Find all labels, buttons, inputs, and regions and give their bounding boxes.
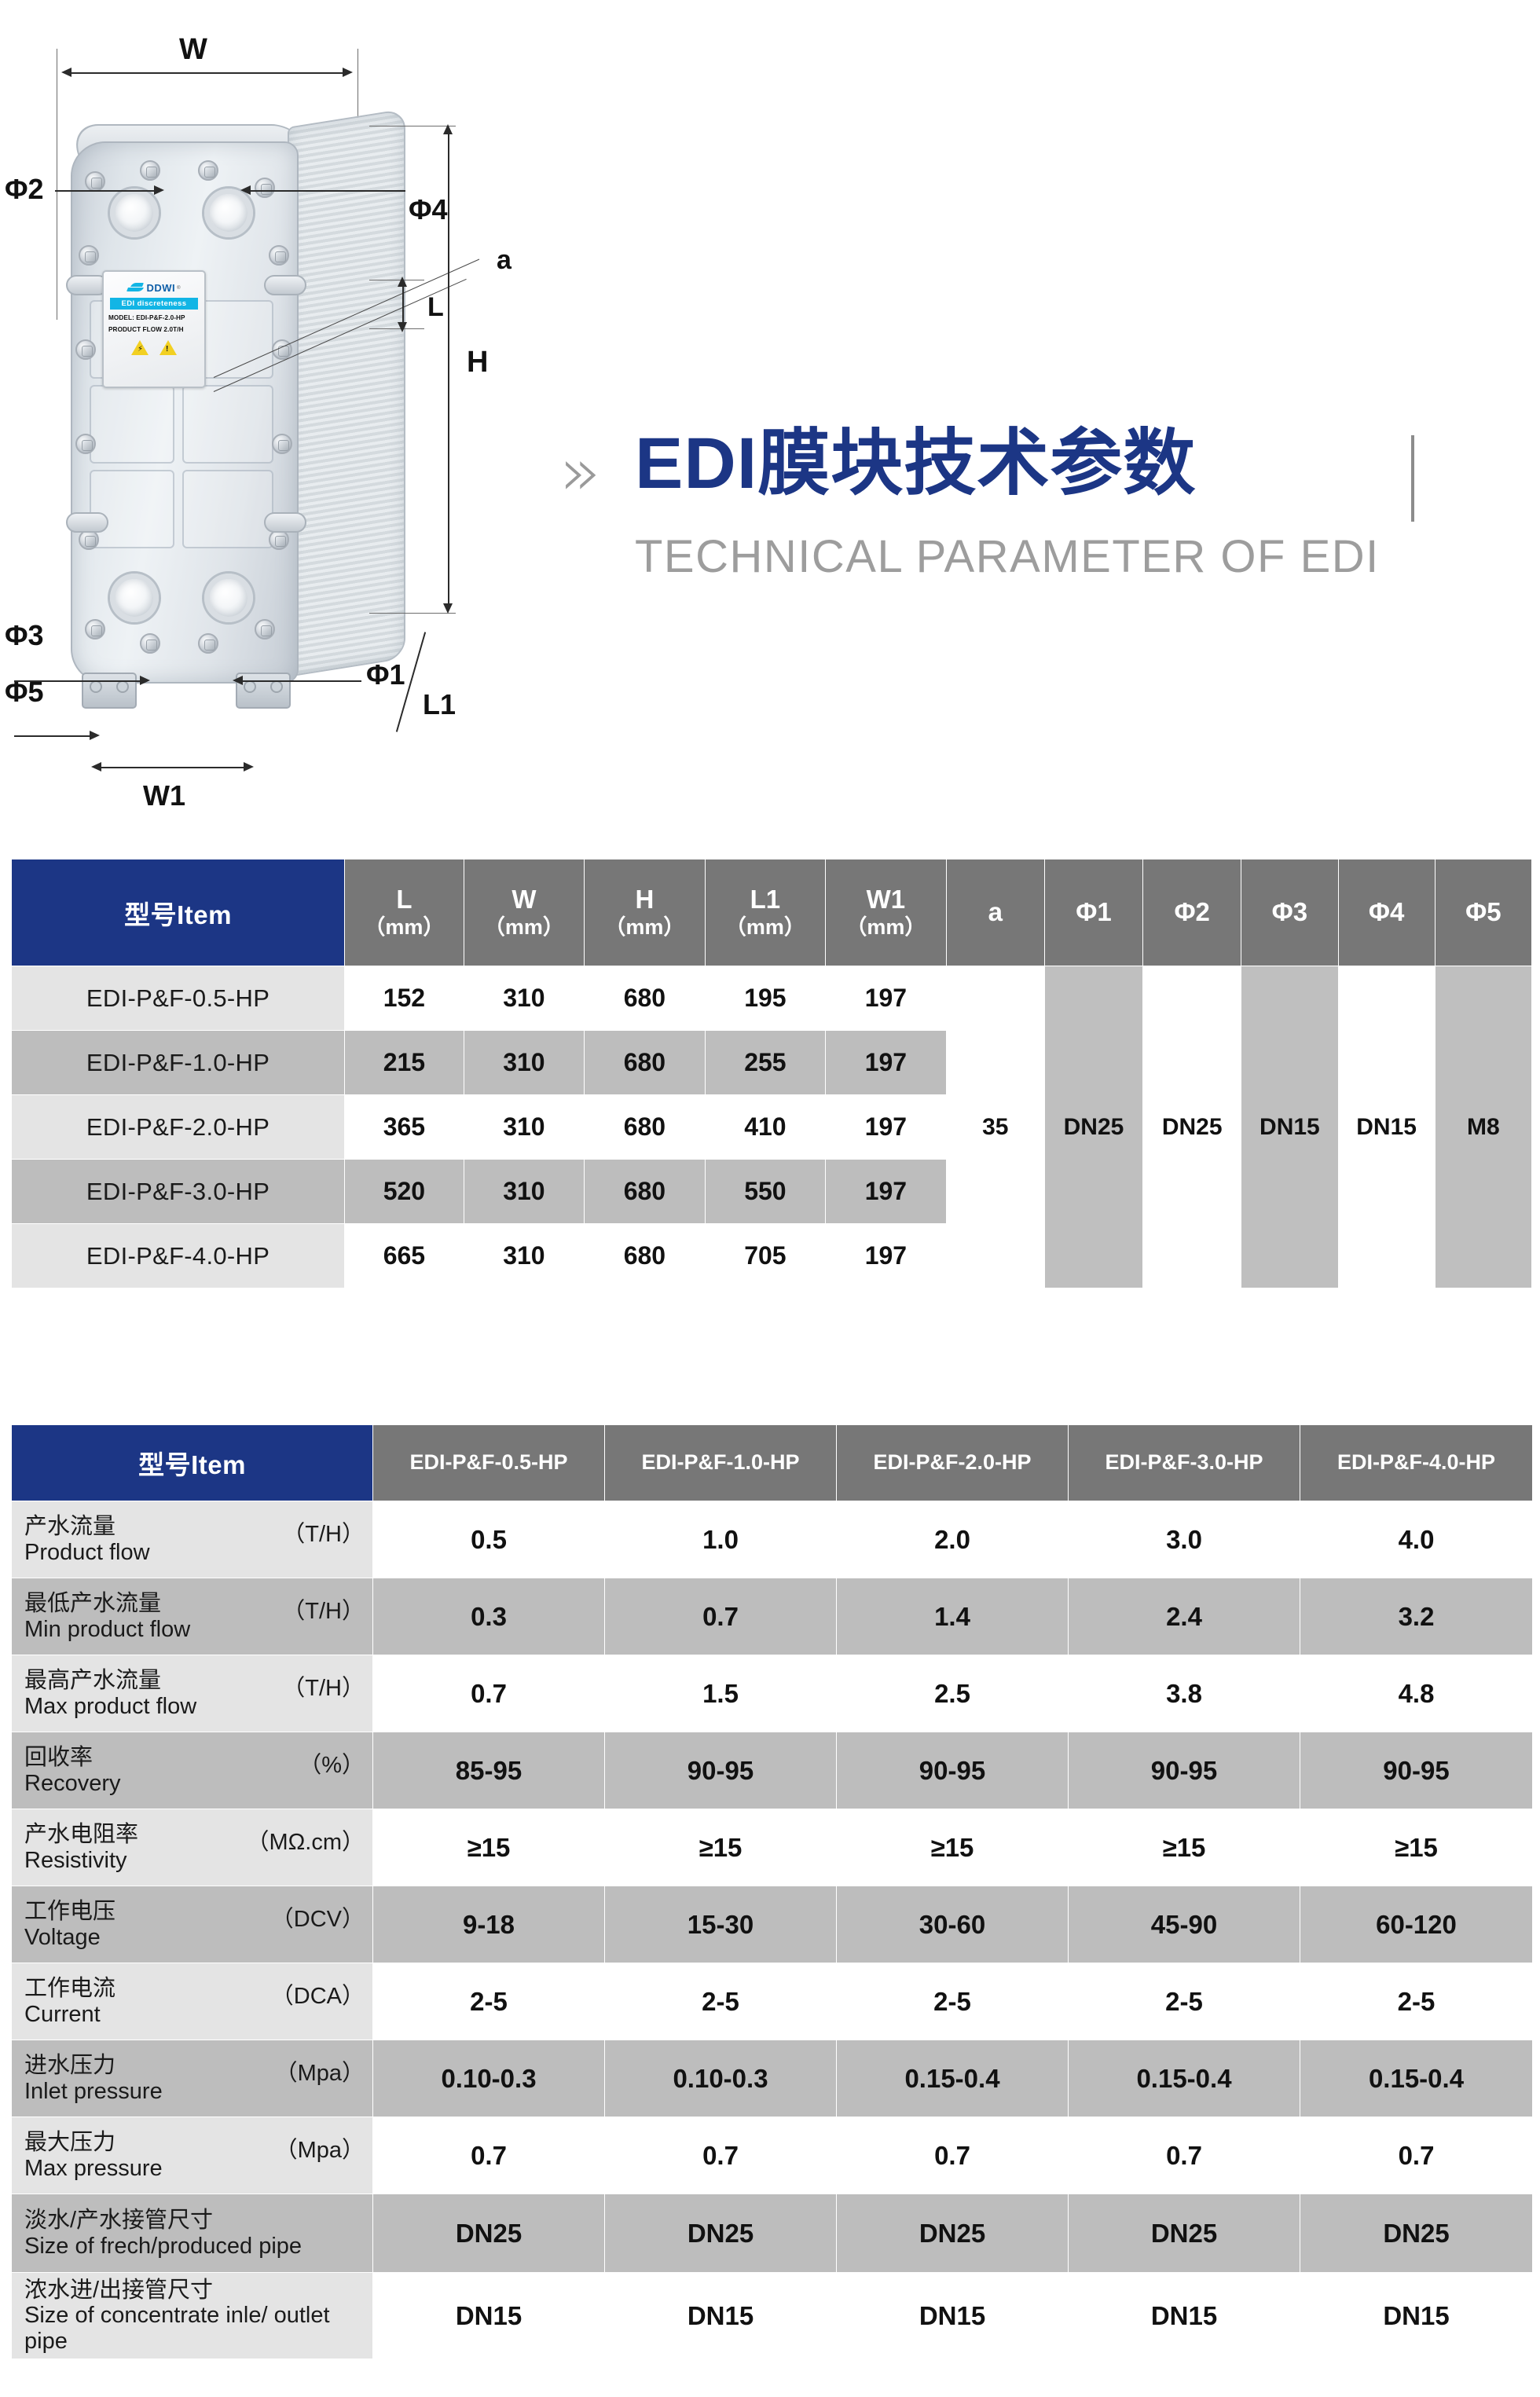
face-grid-cell <box>90 470 174 548</box>
value-cell: 0.15-0.4 <box>1300 2040 1533 2117</box>
value-cell: DN15 <box>373 2273 605 2359</box>
value-cell: 0.5 <box>373 1501 605 1578</box>
value-cell: 3.2 <box>1300 1578 1533 1655</box>
row-label-en: Inlet pressure <box>24 2079 163 2104</box>
cell-l1: 705 <box>705 1224 826 1288</box>
nameplate-model: MODEL: EDI-P&F-2.0-HP <box>108 314 200 321</box>
row-label-cell: 工作电流Current（DCA） <box>12 1963 373 2040</box>
value-cell: 2.4 <box>1069 1578 1300 1655</box>
port-phi2-inlet <box>110 189 159 237</box>
cell-h: 680 <box>585 1031 706 1095</box>
cell-model: EDI-P&F-0.5-HP <box>12 966 345 1031</box>
value-cell: DN15 <box>837 2273 1069 2359</box>
cell-h: 680 <box>585 1095 706 1160</box>
face-grid-cell <box>182 470 273 548</box>
header-w-label: W <box>511 885 536 914</box>
table-row: 产水流量Product flow（T/H）0.51.02.03.04.0 <box>12 1501 1533 1578</box>
arrow-phi2 <box>154 185 164 195</box>
row-label-cn: 工作电压 <box>24 1899 115 1924</box>
arrow-phi1 <box>233 676 243 685</box>
top-section: W <box>0 0 1540 813</box>
value-cell: DN25 <box>1069 2194 1300 2273</box>
header-w-unit: （mm） <box>464 915 585 940</box>
row-label-cn: 产水流量 <box>24 1514 150 1539</box>
product-nameplate: DDWI ® EDI discreteness MODEL: EDI-P&F-2… <box>102 270 206 388</box>
bolt <box>140 633 160 654</box>
row-label-cell: 工作电压Voltage（DCV） <box>12 1886 373 1963</box>
table-row: 浓水进/出接管尺寸Size of concentrate inle/ outle… <box>12 2273 1533 2359</box>
cell-model: EDI-P&F-4.0-HP <box>12 1224 345 1288</box>
value-cell: ≥15 <box>1069 1809 1300 1886</box>
cell-h: 680 <box>585 966 706 1031</box>
cell-model: EDI-P&F-2.0-HP <box>12 1095 345 1160</box>
value-cell: 90-95 <box>1300 1732 1533 1809</box>
value-cell: ≥15 <box>837 1809 1069 1886</box>
cell-h: 680 <box>585 1160 706 1224</box>
cell-w1: 197 <box>826 1095 947 1160</box>
bolt <box>272 434 292 454</box>
header-l-unit: （mm） <box>345 915 463 940</box>
bolt <box>255 619 275 640</box>
value-cell: 2-5 <box>1300 1963 1533 2040</box>
value-cell: 2.5 <box>837 1655 1069 1732</box>
performance-table: 型号Item EDI-P&F-0.5-HP EDI-P&F-1.0-HP EDI… <box>11 1424 1533 2359</box>
table-row: 最高产水流量Max product flow（T/H）0.71.52.53.84… <box>12 1655 1533 1732</box>
dim-line-h <box>448 130 449 608</box>
value-cell: 0.7 <box>1069 2117 1300 2194</box>
leader-phi5 <box>14 735 94 737</box>
bolt <box>255 178 275 198</box>
leader-phi4 <box>245 190 405 192</box>
row-label-cell: 浓水进/出接管尺寸Size of concentrate inle/ outle… <box>12 2273 373 2359</box>
table-row: 产水电阻率Resistivity（MΩ.cm）≥15≥15≥15≥15≥15 <box>12 1809 1533 1886</box>
value-cell: 30-60 <box>837 1886 1069 1963</box>
table-row: EDI-P&F-0.5-HP 152 310 680 195 197 35 DN… <box>12 966 1532 1031</box>
cell-phi5-merged: M8 <box>1435 966 1531 1288</box>
value-cell: 9-18 <box>373 1886 605 1963</box>
row-label-cell: 进水压力Inlet pressure（Mpa） <box>12 2040 373 2117</box>
cell-w1: 197 <box>826 1160 947 1224</box>
row-label-en: Size of frech/produced pipe <box>24 2234 302 2259</box>
leader-phi1 <box>237 680 361 682</box>
dim-label-phi4: Φ4 <box>409 193 448 226</box>
port-phi3-outlet <box>110 574 159 622</box>
row-label-cell: 回收率Recovery（%） <box>12 1732 373 1809</box>
electric-hazard-icon: ⚡ <box>131 340 148 355</box>
row-label-cn: 淡水/产水接管尺寸 <box>24 2208 302 2233</box>
cell-w1: 197 <box>826 1224 947 1288</box>
row-label-en: Size of concentrate inle/ outlet pipe <box>24 2303 365 2354</box>
row-label-cell: 产水电阻率Resistivity（MΩ.cm） <box>12 1809 373 1886</box>
value-cell: 0.7 <box>1300 2117 1533 2194</box>
row-label-cell: 淡水/产水接管尺寸Size of frech/produced pipe <box>12 2194 373 2273</box>
row-label-cell: 产水流量Product flow（T/H） <box>12 1501 373 1578</box>
header-item: 型号Item <box>12 1425 373 1501</box>
value-cell: 1.0 <box>605 1501 837 1578</box>
row-unit: （MΩ.cm） <box>246 1822 365 1856</box>
row-label-cn: 进水压力 <box>24 2053 163 2078</box>
header-model-2: EDI-P&F-2.0-HP <box>837 1425 1069 1501</box>
nozzle <box>264 275 306 295</box>
header-l: L（mm） <box>345 859 464 966</box>
nameplate-brand: DDWI <box>146 282 175 294</box>
bolt <box>75 339 96 360</box>
value-cell: ≥15 <box>1300 1809 1533 1886</box>
cell-l: 665 <box>345 1224 464 1288</box>
header-l-label: L <box>396 885 412 914</box>
module-side-stack <box>288 108 405 677</box>
port-phi4-inlet <box>204 189 253 237</box>
header-model-1: EDI-P&F-1.0-HP <box>605 1425 837 1501</box>
product-technical-drawing: W <box>0 16 550 801</box>
registered-mark-icon: ® <box>177 286 180 291</box>
row-unit: （DCA） <box>271 1976 365 2010</box>
value-cell: 2.0 <box>837 1501 1069 1578</box>
value-cell: 90-95 <box>1069 1732 1300 1809</box>
module-front-face: DDWI ® EDI discreteness MODEL: EDI-P&F-2… <box>71 141 299 684</box>
value-cell: ≥15 <box>605 1809 837 1886</box>
arrow-phi4 <box>240 185 251 195</box>
bolt <box>198 160 218 181</box>
cell-model: EDI-P&F-1.0-HP <box>12 1031 345 1095</box>
cell-w: 310 <box>464 966 585 1031</box>
header-w1-unit: （mm） <box>826 915 946 940</box>
row-label-cn: 最高产水流量 <box>24 1668 196 1693</box>
row-unit: （Mpa） <box>275 2130 365 2164</box>
row-unit: （T/H） <box>282 1514 365 1549</box>
value-cell: 0.7 <box>837 2117 1069 2194</box>
cell-w1: 197 <box>826 1031 947 1095</box>
section-title-block: » EDI膜块技术参数 TECHNICAL PARAMETER OF EDI <box>550 409 1540 636</box>
row-unit: （DCV） <box>271 1899 365 1933</box>
row-label-en: Current <box>24 2002 115 2027</box>
row-label-en: Max product flow <box>24 1694 196 1719</box>
table-row: 淡水/产水接管尺寸Size of frech/produced pipeDN25… <box>12 2194 1533 2273</box>
value-cell: 0.3 <box>373 1578 605 1655</box>
port-phi1-outlet <box>204 574 253 622</box>
value-cell: 2-5 <box>373 1963 605 2040</box>
mounting-foot-right <box>236 673 291 709</box>
cell-a-merged: 35 <box>946 966 1044 1288</box>
dim-line-w1 <box>96 767 250 768</box>
cell-l1: 550 <box>705 1160 826 1224</box>
value-cell: DN25 <box>373 2194 605 2273</box>
cell-w: 310 <box>464 1031 585 1095</box>
value-cell: ≥15 <box>373 1809 605 1886</box>
leader-phi2 <box>55 190 159 192</box>
page-title-cn: EDI膜块技术参数 <box>635 423 1196 506</box>
bolt <box>75 434 96 454</box>
arrow-w-right <box>343 68 353 77</box>
dim-label-h: H <box>467 346 488 379</box>
value-cell: 4.8 <box>1300 1655 1533 1732</box>
table-row: 回收率Recovery（%）85-9590-9590-9590-9590-95 <box>12 1732 1533 1809</box>
edi-module-body: DDWI ® EDI discreteness MODEL: EDI-P&F-2… <box>55 110 385 731</box>
cell-l: 152 <box>345 966 464 1031</box>
dim-label-phi5: Φ5 <box>5 676 44 709</box>
table-row: 进水压力Inlet pressure（Mpa）0.10-0.30.10-0.30… <box>12 2040 1533 2117</box>
face-grid-cell <box>90 385 174 464</box>
value-cell: 60-120 <box>1300 1886 1533 1963</box>
value-cell: 2-5 <box>837 1963 1069 2040</box>
header-phi3: Φ3 <box>1241 859 1338 966</box>
row-label-en: Voltage <box>24 1925 115 1950</box>
cell-l: 520 <box>345 1160 464 1224</box>
value-cell: DN25 <box>1300 2194 1533 2273</box>
cell-l: 215 <box>345 1031 464 1095</box>
cell-h: 680 <box>585 1224 706 1288</box>
value-cell: 90-95 <box>837 1732 1069 1809</box>
value-cell: 0.7 <box>605 2117 837 2194</box>
value-cell: 0.15-0.4 <box>1069 2040 1300 2117</box>
header-l1-label: L1 <box>750 885 781 914</box>
cell-phi3-merged: DN15 <box>1241 966 1338 1288</box>
bolt <box>140 160 160 181</box>
header-h-unit: （mm） <box>585 915 705 940</box>
face-grid-cell <box>182 385 273 464</box>
arrow-w1-right <box>244 762 254 772</box>
header-phi4: Φ4 <box>1338 859 1435 966</box>
cell-w: 310 <box>464 1160 585 1224</box>
row-unit: （%） <box>299 1745 365 1779</box>
dimensions-table: 型号Item L（mm） W（mm） H（mm） L1（mm） W1（mm） a… <box>11 859 1532 1288</box>
row-label-cn: 产水电阻率 <box>24 1822 138 1847</box>
header-phi1: Φ1 <box>1044 859 1142 966</box>
value-cell: 1.4 <box>837 1578 1069 1655</box>
arrow-w1-left <box>91 762 101 772</box>
value-cell: 3.0 <box>1069 1501 1300 1578</box>
value-cell: DN15 <box>605 2273 837 2359</box>
row-unit: （Mpa） <box>275 2053 365 2087</box>
header-l1: L1（mm） <box>705 859 826 966</box>
cell-model: EDI-P&F-3.0-HP <box>12 1160 345 1224</box>
nameplate-logo: DDWI ® <box>108 282 200 294</box>
cell-l1: 255 <box>705 1031 826 1095</box>
cell-phi1-merged: DN25 <box>1044 966 1142 1288</box>
cell-l1: 195 <box>705 966 826 1031</box>
value-cell: DN15 <box>1300 2273 1533 2359</box>
value-cell: 0.15-0.4 <box>837 2040 1069 2117</box>
bolt <box>85 171 105 192</box>
arrow-h-up <box>443 124 453 134</box>
table-row: 最大压力Max pressure（Mpa）0.70.70.70.70.7 <box>12 2117 1533 2194</box>
row-label-en: Max pressure <box>24 2156 163 2181</box>
cell-phi2-merged: DN25 <box>1143 966 1241 1288</box>
dim-line-l <box>402 283 404 325</box>
value-cell: 15-30 <box>605 1886 837 1963</box>
nameplate-warnings: ⚡ ! <box>108 340 200 355</box>
title-divider <box>1411 435 1414 522</box>
arrow-l-down <box>398 322 407 332</box>
header-phi5: Φ5 <box>1435 859 1531 966</box>
header-model-0: EDI-P&F-0.5-HP <box>373 1425 605 1501</box>
value-cell: DN25 <box>837 2194 1069 2273</box>
ext-line-l-top <box>369 280 424 280</box>
value-cell: 2-5 <box>605 1963 837 2040</box>
table-row: 工作电流Current（DCA）2-52-52-52-52-5 <box>12 1963 1533 2040</box>
header-l1-unit: （mm） <box>706 915 826 940</box>
dim-label-a: a <box>497 245 511 276</box>
bolt <box>269 245 289 266</box>
caution-icon: ! <box>159 340 177 355</box>
value-cell: 0.10-0.3 <box>373 2040 605 2117</box>
arrow-w-left <box>61 68 71 77</box>
row-label-cn: 回收率 <box>24 1745 121 1770</box>
value-cell: 4.0 <box>1300 1501 1533 1578</box>
value-cell: DN25 <box>605 2194 837 2273</box>
row-label-en: Min product flow <box>24 1617 190 1642</box>
page-title-en: TECHNICAL PARAMETER OF EDI <box>635 530 1380 583</box>
table-row: 工作电压Voltage（DCV）9-1815-3030-6045-9060-12… <box>12 1886 1533 1963</box>
performance-table-header-row: 型号Item EDI-P&F-0.5-HP EDI-P&F-1.0-HP EDI… <box>12 1425 1533 1501</box>
table-row: 最低产水流量Min product flow（T/H）0.30.71.42.43… <box>12 1578 1533 1655</box>
value-cell: 0.7 <box>605 1578 837 1655</box>
header-item: 型号Item <box>12 859 345 966</box>
header-w: W（mm） <box>464 859 585 966</box>
arrow-h-down <box>443 603 453 614</box>
nozzle <box>264 512 306 533</box>
row-label-cell: 最高产水流量Max product flow（T/H） <box>12 1655 373 1732</box>
cell-l1: 410 <box>705 1095 826 1160</box>
row-label-en: Resistivity <box>24 1848 138 1873</box>
value-cell: 2-5 <box>1069 1963 1300 2040</box>
dim-label-l1: L1 <box>423 688 456 721</box>
dim-label-w: W <box>179 33 207 67</box>
header-w1: W1（mm） <box>826 859 947 966</box>
nameplate-flow: PRODUCT FLOW 2.0T/H <box>108 326 200 333</box>
dim-line-w <box>66 72 349 74</box>
header-w1-label: W1 <box>867 885 906 914</box>
spec-sheet-page: W <box>0 0 1540 2397</box>
cell-w1: 197 <box>826 966 947 1031</box>
bolt <box>79 245 99 266</box>
row-label-cn: 最低产水流量 <box>24 1591 190 1616</box>
row-label-cn: 工作电流 <box>24 1976 115 2001</box>
header-h-label: H <box>635 885 654 914</box>
dim-label-phi1: Φ1 <box>366 658 405 691</box>
header-model-3: EDI-P&F-3.0-HP <box>1069 1425 1300 1501</box>
header-phi2: Φ2 <box>1143 859 1241 966</box>
cell-phi4-merged: DN15 <box>1338 966 1435 1288</box>
value-cell: 0.10-0.3 <box>605 2040 837 2117</box>
dimensions-table-header-row: 型号Item L（mm） W（mm） H（mm） L1（mm） W1（mm） a… <box>12 859 1532 966</box>
dim-label-phi2: Φ2 <box>5 173 44 206</box>
value-cell: 90-95 <box>605 1732 837 1809</box>
bolt <box>198 633 218 654</box>
header-model-4: EDI-P&F-4.0-HP <box>1300 1425 1533 1501</box>
dim-label-l: L <box>427 292 444 323</box>
row-label-en: Product flow <box>24 1540 150 1565</box>
bolt <box>85 619 105 640</box>
dim-label-w1: W1 <box>143 779 185 812</box>
arrow-l-up <box>398 277 407 287</box>
row-label-en: Recovery <box>24 1771 121 1796</box>
value-cell: 85-95 <box>373 1732 605 1809</box>
row-label-cn: 最大压力 <box>24 2130 163 2155</box>
nozzle <box>66 512 108 533</box>
row-label-cell: 最低产水流量Min product flow（T/H） <box>12 1578 373 1655</box>
row-label-cell: 最大压力Max pressure（Mpa） <box>12 2117 373 2194</box>
value-cell: 0.7 <box>373 2117 605 2194</box>
value-cell: 45-90 <box>1069 1886 1300 1963</box>
value-cell: 1.5 <box>605 1655 837 1732</box>
row-unit: （T/H） <box>282 1668 365 1702</box>
mounting-foot-left <box>82 673 137 709</box>
nameplate-band: EDI discreteness <box>110 298 198 310</box>
value-cell: 3.8 <box>1069 1655 1300 1732</box>
ddwi-logo-icon <box>127 283 145 293</box>
cell-w: 310 <box>464 1095 585 1160</box>
value-cell: 0.7 <box>373 1655 605 1732</box>
cell-l: 365 <box>345 1095 464 1160</box>
cell-w: 310 <box>464 1224 585 1288</box>
arrow-phi5 <box>90 731 100 740</box>
value-cell: DN15 <box>1069 2273 1300 2359</box>
ext-line-l-bot <box>369 328 424 329</box>
row-unit: （T/H） <box>282 1591 365 1625</box>
dim-label-phi3: Φ3 <box>5 619 44 652</box>
header-h: H（mm） <box>585 859 706 966</box>
row-label-cn: 浓水进/出接管尺寸 <box>24 2278 365 2303</box>
chevron-right-icon: » <box>559 438 601 506</box>
header-a: a <box>946 859 1044 966</box>
arrow-phi3 <box>140 676 150 685</box>
